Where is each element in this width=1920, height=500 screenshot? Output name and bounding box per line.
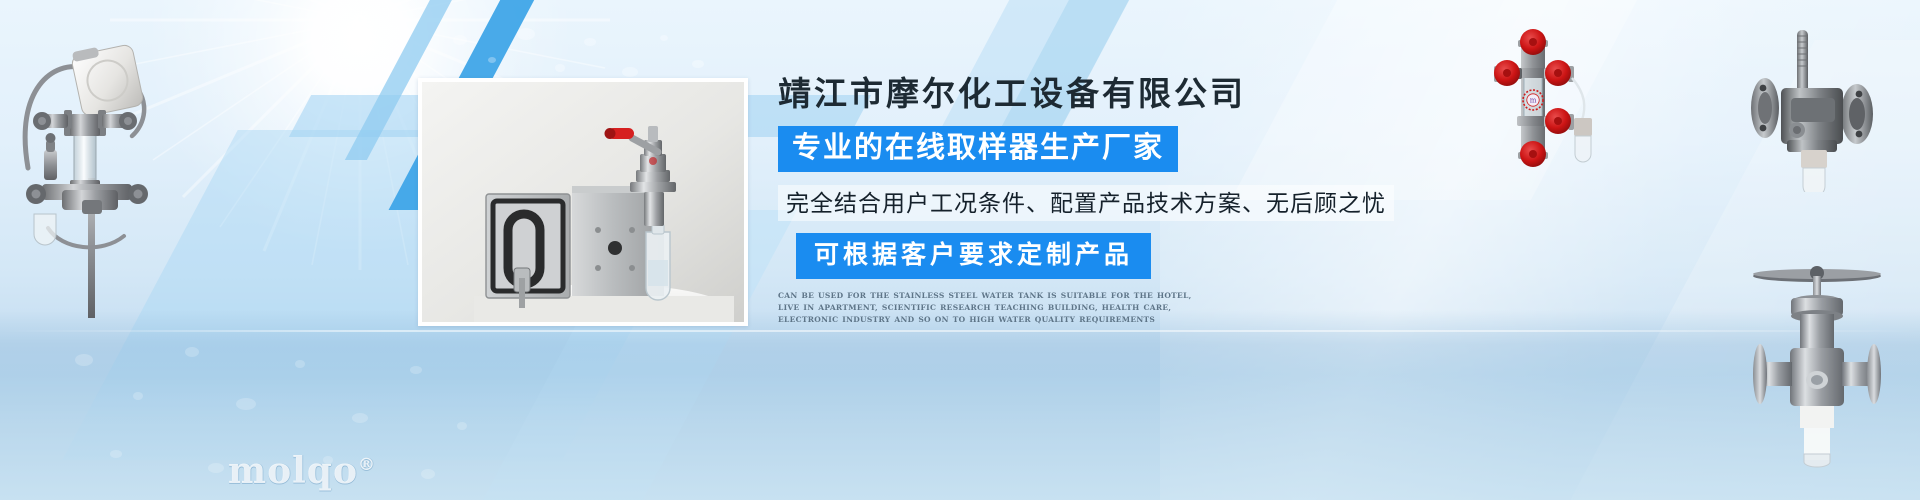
product-photo-art <box>422 82 744 322</box>
english-description: CAN BE USED FOR THE STAINLESS STEEL WATE… <box>778 290 1198 326</box>
equipment-gate-valve-icon <box>1732 258 1902 483</box>
product-photo-frame <box>418 78 748 326</box>
watermark-logo: molqo® <box>228 450 376 492</box>
decor-horizon-line <box>0 330 1920 332</box>
watermark-registered-mark: ® <box>358 455 376 475</box>
svg-text:m: m <box>1530 97 1537 105</box>
equipment-cross-valve-icon: m <box>1490 28 1700 168</box>
banner-copy: 靖江市摩尔化工设备有限公司 专业的在线取样器生产厂家 完全结合用户工况条件、配置… <box>778 74 1418 326</box>
custom-badge-row: 可根据客户要求定制产品 <box>796 233 1418 279</box>
equipment-lever-valve-icon <box>1735 22 1895 192</box>
decor-diagonal-7 <box>1565 40 1920 500</box>
equipment-left-sampler-icon <box>6 18 196 318</box>
headline-badge-row: 专业的在线取样器生产厂家 <box>778 126 1418 172</box>
headline-badge: 专业的在线取样器生产厂家 <box>778 126 1178 172</box>
custom-badge: 可根据客户要求定制产品 <box>796 233 1151 279</box>
watermark-text: molqo <box>228 450 358 492</box>
product-photo <box>422 82 744 322</box>
banner-subline: 完全结合用户工况条件、配置产品技术方案、无后顾之忧 <box>778 185 1394 221</box>
promo-banner: m <box>0 0 1920 500</box>
company-title: 靖江市摩尔化工设备有限公司 <box>778 74 1418 114</box>
